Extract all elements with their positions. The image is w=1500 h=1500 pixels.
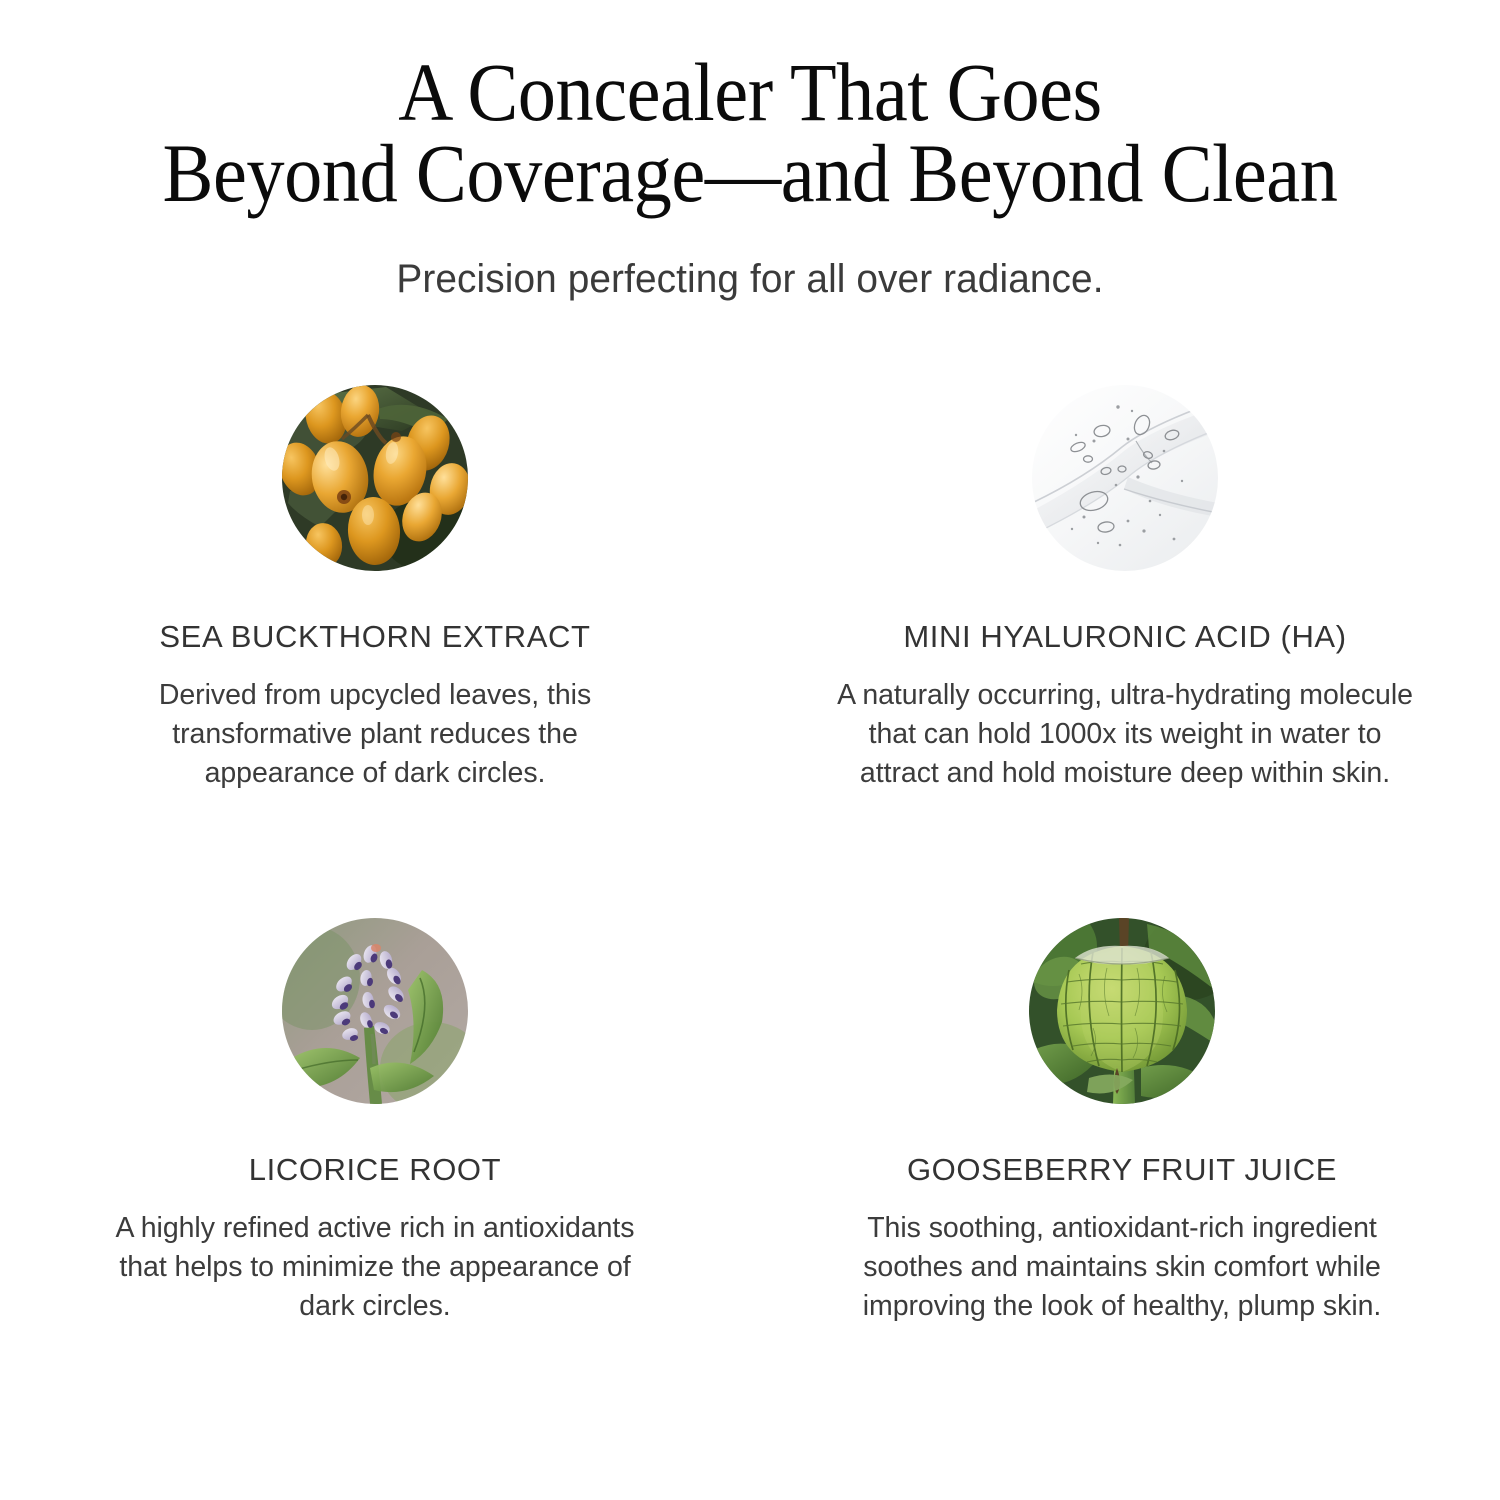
ingredient-title: MINI HYALURONIC ACID (HA) [903,619,1346,655]
ingredient-grid: SEA BUCKTHORN EXTRACT Derived from upcyc… [0,385,1500,1325]
ingredient-description: A naturally occurring, ultra-hydrating m… [835,676,1415,792]
ingredient-description: Derived from upcycled leaves, this trans… [95,676,655,792]
ingredient-title: GOOSEBERRY FRUIT JUICE [907,1152,1337,1188]
page-subtitle: Precision perfecting for all over radian… [23,257,1478,302]
ingredient-benefits-infographic: A Concealer That Goes Beyond Coverage—an… [0,0,1500,1500]
ingredient-title: SEA BUCKTHORN EXTRACT [159,619,590,655]
ingredient-card-mini-hyaluronic-acid: MINI HYALURONIC ACID (HA) A naturally oc… [750,385,1500,918]
ingredient-card-gooseberry-fruit-juice: GOOSEBERRY FRUIT JUICE This soothing, an… [747,918,1497,1325]
ingredient-card-licorice-root: LICORICE ROOT A highly refined active ri… [0,918,750,1325]
ingredient-description: This soothing, antioxidant-rich ingredie… [822,1209,1422,1325]
headline-line-2: Beyond Coverage—and Beyond Clean [60,133,1440,214]
ingredient-title: LICORICE ROOT [249,1152,501,1188]
cape-gooseberry-husk-photo [1029,918,1215,1104]
header: A Concealer That Goes Beyond Coverage—an… [0,52,1500,302]
sea-buckthorn-berries-photo [282,385,468,571]
clear-gel-texture-photo [1032,385,1218,571]
ingredient-card-sea-buckthorn: SEA BUCKTHORN EXTRACT Derived from upcyc… [0,385,750,918]
ingredient-description: A highly refined active rich in antioxid… [105,1209,645,1325]
licorice-flower-photo [282,918,468,1104]
headline-line-1: A Concealer That Goes [60,52,1440,133]
page-title: A Concealer That Goes Beyond Coverage—an… [60,52,1440,213]
